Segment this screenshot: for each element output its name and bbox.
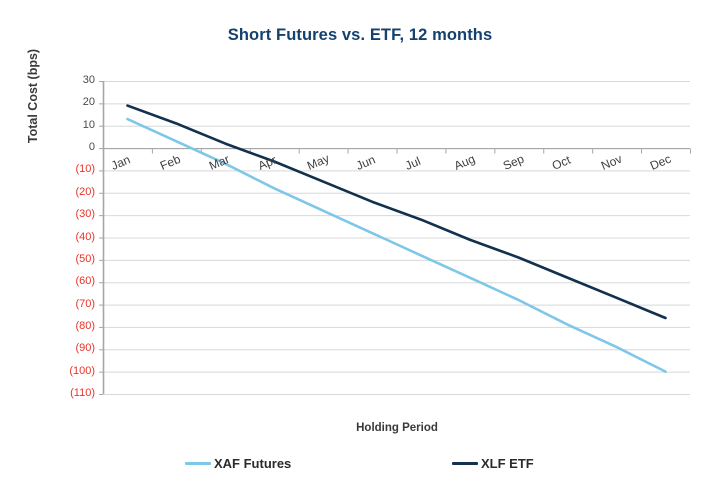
x-axis-title: Holding Period	[103, 422, 691, 434]
y-axis-tick-label: (110)	[47, 388, 95, 399]
y-axis-tick-label: (90)	[47, 343, 95, 354]
y-axis-tick-label: (10)	[47, 164, 95, 175]
y-axis-tick-label: (30)	[47, 209, 95, 220]
series-line-xaf-futures	[127, 119, 665, 372]
y-axis-tick-label: (80)	[47, 321, 95, 332]
legend-line-swatch	[452, 462, 478, 465]
y-axis-tick-label: 10	[47, 120, 95, 131]
y-axis-tick-label: 20	[47, 97, 95, 108]
chart-container: Short Futures vs. ETF, 12 months Total C…	[0, 0, 720, 500]
legend-label: XAF Futures	[214, 456, 291, 471]
legend-item[interactable]: XLF ETF	[452, 452, 534, 474]
y-axis-tick-label: (50)	[47, 254, 95, 265]
y-axis-tick-label: (40)	[47, 232, 95, 243]
legend-line-swatch	[185, 462, 211, 465]
y-axis-tick-label: (60)	[47, 276, 95, 287]
y-axis-tick-label: (100)	[47, 366, 95, 377]
legend-item[interactable]: XAF Futures	[185, 452, 291, 474]
chart-legend: XAF FuturesXLF ETF	[0, 452, 720, 476]
y-axis-tick-label: 30	[47, 75, 95, 86]
legend-label: XLF ETF	[481, 456, 534, 471]
y-axis-tick-label: 0	[47, 142, 95, 153]
y-axis-tick-label: (20)	[47, 187, 95, 198]
y-axis-tick-label: (70)	[47, 299, 95, 310]
series-line-xlf-etf	[127, 106, 665, 318]
